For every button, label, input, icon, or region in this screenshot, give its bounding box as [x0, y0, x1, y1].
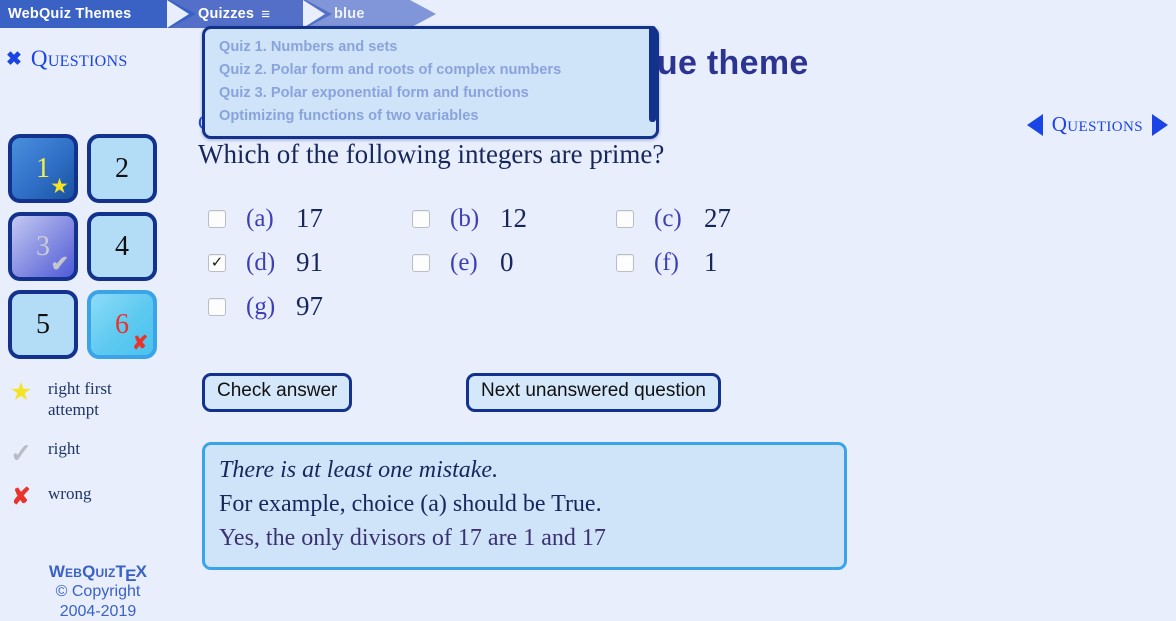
- cross-icon: ✘: [132, 334, 148, 353]
- brand-tex-e: E: [125, 566, 137, 586]
- check-icon: ✔: [51, 253, 69, 275]
- legend-item-label: wrong: [48, 483, 91, 504]
- brand-name: WebQuiz: [49, 562, 116, 581]
- question-button-5-number: 5: [36, 309, 50, 341]
- close-icon[interactable]: ✖: [6, 50, 22, 69]
- answer-label-b: (b): [450, 205, 500, 233]
- breadcrumb-item-themes[interactable]: WebQuiz Themes: [0, 0, 131, 28]
- sidebar-header: ✖ Questions: [6, 46, 128, 72]
- question-text: Which of the following integers are prim…: [198, 139, 664, 170]
- hamburger-menu-icon[interactable]: ≡: [261, 7, 270, 22]
- answer-label-a: (a): [246, 205, 296, 233]
- answer-option-f[interactable]: (f) 1: [616, 247, 820, 278]
- menu-item-quiz-3[interactable]: Quiz 3. Polar exponential form and funct…: [205, 81, 656, 104]
- legend-item: ★ right first attempt: [8, 378, 188, 421]
- answer-row: (g) 97: [208, 291, 828, 322]
- brand-tex-x: X: [136, 562, 148, 581]
- previous-question-icon[interactable]: [1027, 114, 1043, 136]
- sidebar-header-label: Questions: [31, 46, 128, 72]
- breadcrumb-separator-icon: [167, 0, 189, 28]
- copyright-block: WebQuizTEX © Copyright 2004-2019: [0, 562, 196, 621]
- question-button-grid: 1 ★ 2 3 ✔ 4 5 6 ✘: [8, 134, 178, 359]
- feedback-line-2: For example, choice (a) should be True.: [219, 487, 830, 521]
- answer-option-c[interactable]: (c) 27: [616, 203, 820, 234]
- question-button-3-number: 3: [36, 231, 50, 263]
- answer-option-d[interactable]: ✓ (d) 91: [208, 247, 412, 278]
- checkbox-c[interactable]: [616, 210, 634, 228]
- question-button-6[interactable]: 6 ✘: [87, 290, 157, 359]
- answer-value-g: 97: [296, 291, 323, 322]
- answer-value-d: 91: [296, 247, 323, 278]
- breadcrumb: WebQuiz Themes Quizzes ≡ blue: [0, 0, 1176, 28]
- check-answer-button[interactable]: Check answer: [202, 373, 352, 412]
- question-button-5[interactable]: 5: [8, 290, 78, 359]
- feedback-panel: There is at least one mistake. For examp…: [202, 442, 847, 570]
- answer-label-f: (f): [654, 249, 704, 277]
- answer-options: (a) 17 (b) 12 (c) 27 ✓ (d) 91 (e) 0 (f) …: [208, 203, 828, 335]
- answer-option-b[interactable]: (b) 12: [412, 203, 616, 234]
- copyright-line-2: 2004-2019: [0, 602, 196, 621]
- answer-value-a: 17: [296, 203, 323, 234]
- question-button-2-number: 2: [115, 153, 129, 185]
- answer-row: (a) 17 (b) 12 (c) 27: [208, 203, 828, 234]
- question-button-3[interactable]: 3 ✔: [8, 212, 78, 281]
- question-button-4[interactable]: 4: [87, 212, 157, 281]
- legend-item: ✓ right: [8, 438, 188, 466]
- copyright-line-1: © Copyright: [0, 582, 196, 601]
- question-button-2[interactable]: 2: [87, 134, 157, 203]
- breadcrumb-item-blue-label: blue: [332, 6, 365, 22]
- question-button-6-number: 6: [115, 309, 129, 341]
- menu-item-optimizing[interactable]: Optimizing functions of two variables: [205, 104, 656, 127]
- legend-item-label: right first attempt: [48, 378, 158, 421]
- breadcrumb-item-quizzes-label: Quizzes: [196, 6, 254, 22]
- checkbox-g[interactable]: [208, 298, 226, 316]
- legend-item-label: right: [48, 438, 80, 459]
- cross-icon: ✘: [8, 483, 34, 508]
- answer-value-e: 0: [500, 247, 514, 278]
- checkbox-b[interactable]: [412, 210, 430, 228]
- feedback-line-3: Yes, the only divisors of 17 are 1 and 1…: [219, 521, 830, 555]
- next-unanswered-question-button[interactable]: Next unanswered question: [466, 373, 721, 412]
- answer-value-c: 27: [704, 203, 731, 234]
- answer-option-g[interactable]: (g) 97: [208, 291, 412, 322]
- quiz-dropdown-menu[interactable]: Quiz 1. Numbers and sets Quiz 2. Polar f…: [202, 26, 659, 139]
- answer-option-e[interactable]: (e) 0: [412, 247, 616, 278]
- answer-label-g: (g): [246, 293, 296, 321]
- menu-edge-bar: [649, 26, 656, 122]
- check-icon: ✓: [8, 438, 34, 466]
- question-nav: Questions: [1027, 112, 1168, 137]
- question-button-4-number: 4: [115, 231, 129, 263]
- breadcrumb-separator-icon: [303, 0, 325, 28]
- answer-label-c: (c): [654, 205, 704, 233]
- breadcrumb-chevron-icon: [410, 0, 436, 28]
- checkbox-a[interactable]: [208, 210, 226, 228]
- answer-value-b: 12: [500, 203, 527, 234]
- star-icon: ★: [50, 176, 69, 197]
- star-icon: ★: [8, 378, 34, 405]
- answer-label-e: (e): [450, 249, 500, 277]
- answer-label-d: (d): [246, 249, 296, 277]
- breadcrumb-item-blue[interactable]: blue: [332, 0, 365, 28]
- question-nav-label: Questions: [1052, 112, 1143, 137]
- menu-item-quiz-1[interactable]: Quiz 1. Numbers and sets: [205, 35, 656, 58]
- menu-item-quiz-2[interactable]: Quiz 2. Polar form and roots of complex …: [205, 58, 656, 81]
- checkbox-e[interactable]: [412, 254, 430, 272]
- breadcrumb-item-quizzes[interactable]: Quizzes ≡: [196, 0, 270, 28]
- checkbox-d[interactable]: ✓: [208, 254, 226, 272]
- answer-option-a[interactable]: (a) 17: [208, 203, 412, 234]
- brand-logo: WebQuizTEX: [0, 562, 196, 582]
- breadcrumb-item-themes-label: WebQuiz Themes: [0, 6, 131, 22]
- question-button-1-number: 1: [36, 153, 50, 185]
- answer-row: ✓ (d) 91 (e) 0 (f) 1: [208, 247, 828, 278]
- legend-item: ✘ wrong: [8, 483, 188, 508]
- sidebar: ✖ Questions 1 ★ 2 3 ✔ 4 5 6 ✘ ★ right fi…: [0, 0, 196, 619]
- legend: ★ right first attempt ✓ right ✘ wrong: [8, 378, 188, 525]
- checkbox-f[interactable]: [616, 254, 634, 272]
- feedback-line-1: There is at least one mistake.: [219, 453, 830, 487]
- next-question-icon[interactable]: [1152, 114, 1168, 136]
- answer-value-f: 1: [704, 247, 718, 278]
- question-button-1[interactable]: 1 ★: [8, 134, 78, 203]
